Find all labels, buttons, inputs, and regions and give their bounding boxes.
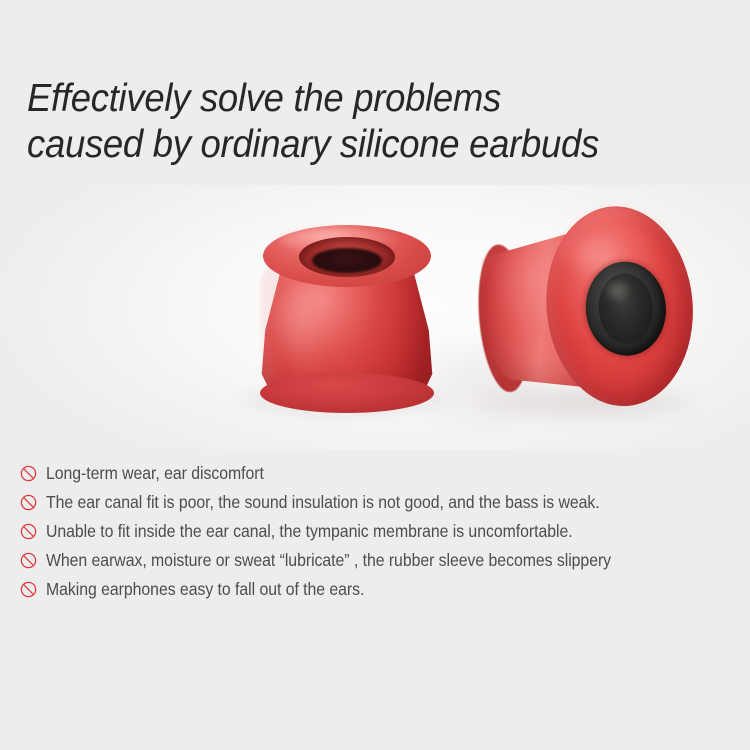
side-lying-foam-eartip [474, 198, 702, 426]
eartip-base [260, 373, 434, 413]
product-photo [0, 185, 750, 450]
eartip-bore-inner [312, 248, 382, 273]
list-item-label: The ear canal fit is poor, the sound ins… [46, 491, 600, 514]
prohibition-icon [20, 494, 37, 511]
page-title: Effectively solve the problems caused by… [27, 76, 727, 168]
list-item: Long-term wear, ear discomfort [20, 462, 745, 491]
prohibition-icon [20, 465, 37, 482]
prohibition-icon [20, 581, 37, 598]
headline-line-2: caused by ordinary silicone earbuds [27, 122, 682, 168]
list-item-label: When earwax, moisture or sweat “lubricat… [46, 549, 611, 572]
prohibition-icon [20, 552, 37, 569]
problem-list: Long-term wear, ear discomfort The ear c… [20, 462, 745, 607]
headline-line-1: Effectively solve the problems [27, 76, 682, 122]
upright-foam-eartip [252, 223, 442, 413]
list-item-label: Making earphones easy to fall out of the… [46, 578, 364, 601]
list-item-label: Long-term wear, ear discomfort [46, 462, 264, 485]
list-item: Unable to fit inside the ear canal, the … [20, 520, 745, 549]
list-item-label: Unable to fit inside the ear canal, the … [46, 520, 573, 543]
infographic-page: Effectively solve the problems caused by… [0, 0, 750, 750]
eartip-highlight [276, 281, 332, 377]
list-item: When earwax, moisture or sweat “lubricat… [20, 549, 745, 578]
list-item: The ear canal fit is poor, the sound ins… [20, 491, 745, 520]
prohibition-icon [20, 523, 37, 540]
list-item: Making earphones easy to fall out of the… [20, 578, 745, 607]
